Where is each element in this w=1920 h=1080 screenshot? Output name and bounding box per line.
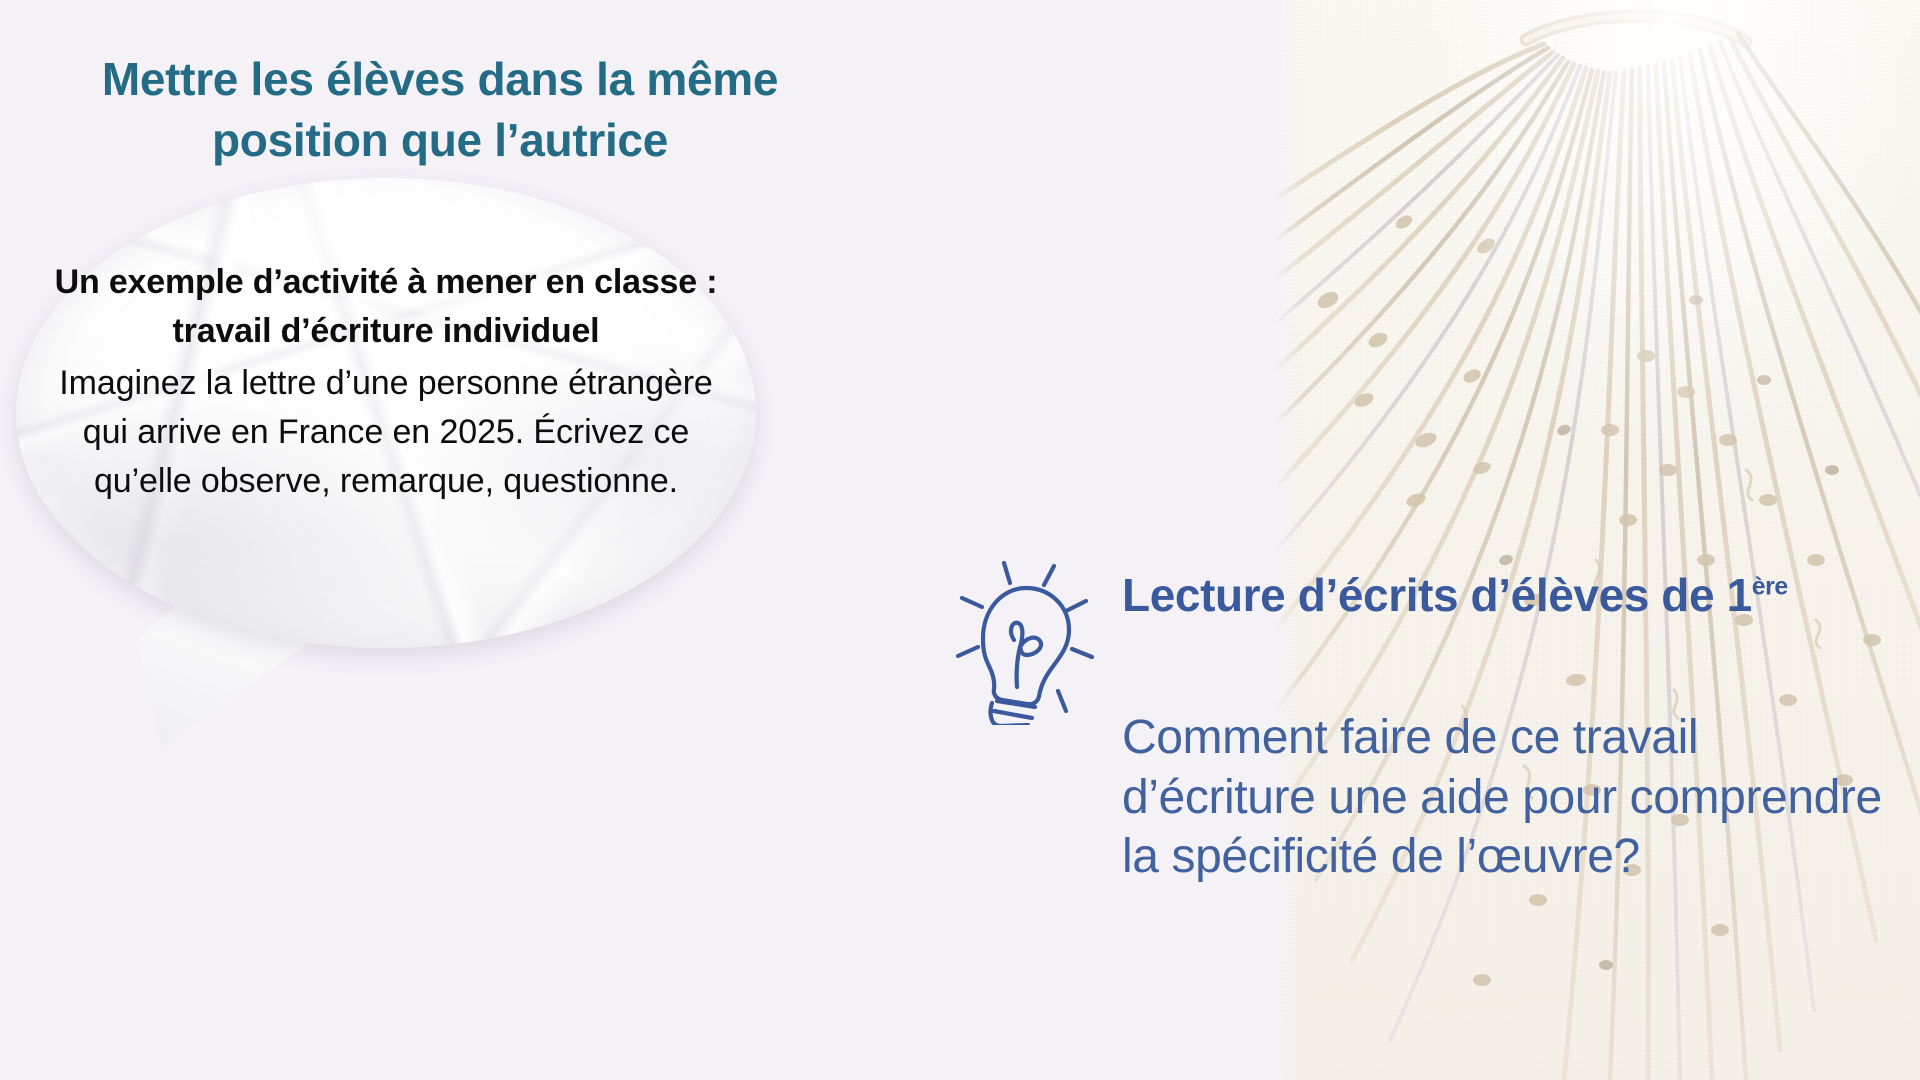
speech-bubble-text: Un exemple d’activité à mener en classe … <box>48 258 724 506</box>
right-column-heading-superscript: ère <box>1752 574 1788 601</box>
quipu-knotted-cords-photo <box>1276 0 1920 1080</box>
right-column: Lecture d’écrits d’élèves de 1ère Commen… <box>1122 568 1882 887</box>
photo-left-edge-fade <box>1276 0 1302 1080</box>
lightbulb-icon-glyph <box>940 555 1100 725</box>
lightbulb-icon <box>940 555 1100 725</box>
right-column-heading: Lecture d’écrits d’élèves de 1ère <box>1122 568 1882 622</box>
speech-bubble: Un exemple d’activité à mener en classe … <box>8 178 768 758</box>
activity-instructions: Imaginez la lettre d’une personne étrang… <box>48 359 724 507</box>
activity-heading: Un exemple d’activité à mener en classe … <box>48 258 724 357</box>
right-column-question: Comment faire de ce travail d’écriture u… <box>1122 708 1882 887</box>
page-title: Mettre les élèves dans la même position … <box>40 49 840 170</box>
right-column-heading-text: Lecture d’écrits d’élèves de 1 <box>1122 569 1752 621</box>
quipu-cords-illustration <box>1276 0 1920 1080</box>
